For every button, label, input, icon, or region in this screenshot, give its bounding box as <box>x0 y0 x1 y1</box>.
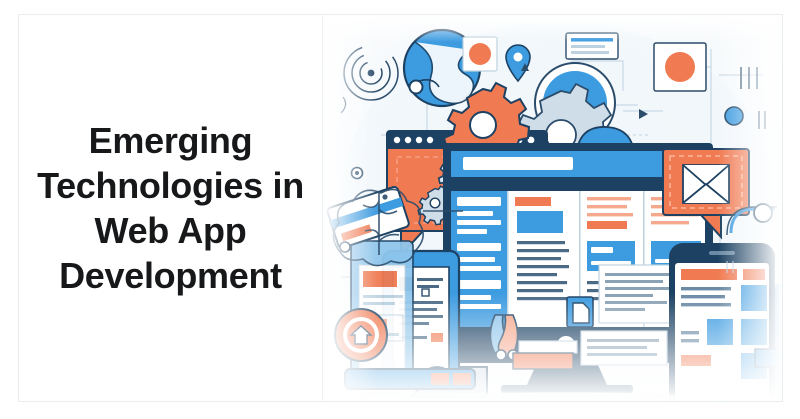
title-line-2: Technologies in <box>37 163 304 208</box>
illustration-panel <box>323 15 782 401</box>
web-development-illustration <box>323 15 782 401</box>
slide-canvas: Emerging Technologies in Web App Develop… <box>0 0 800 419</box>
title-panel: Emerging Technologies in Web App Develop… <box>19 15 323 401</box>
title-line-1: Emerging <box>37 118 304 163</box>
page-title: Emerging Technologies in Web App Develop… <box>31 118 310 298</box>
title-line-4: Development <box>37 253 304 298</box>
content-card: Emerging Technologies in Web App Develop… <box>18 14 783 402</box>
title-line-3: Web App <box>37 208 304 253</box>
